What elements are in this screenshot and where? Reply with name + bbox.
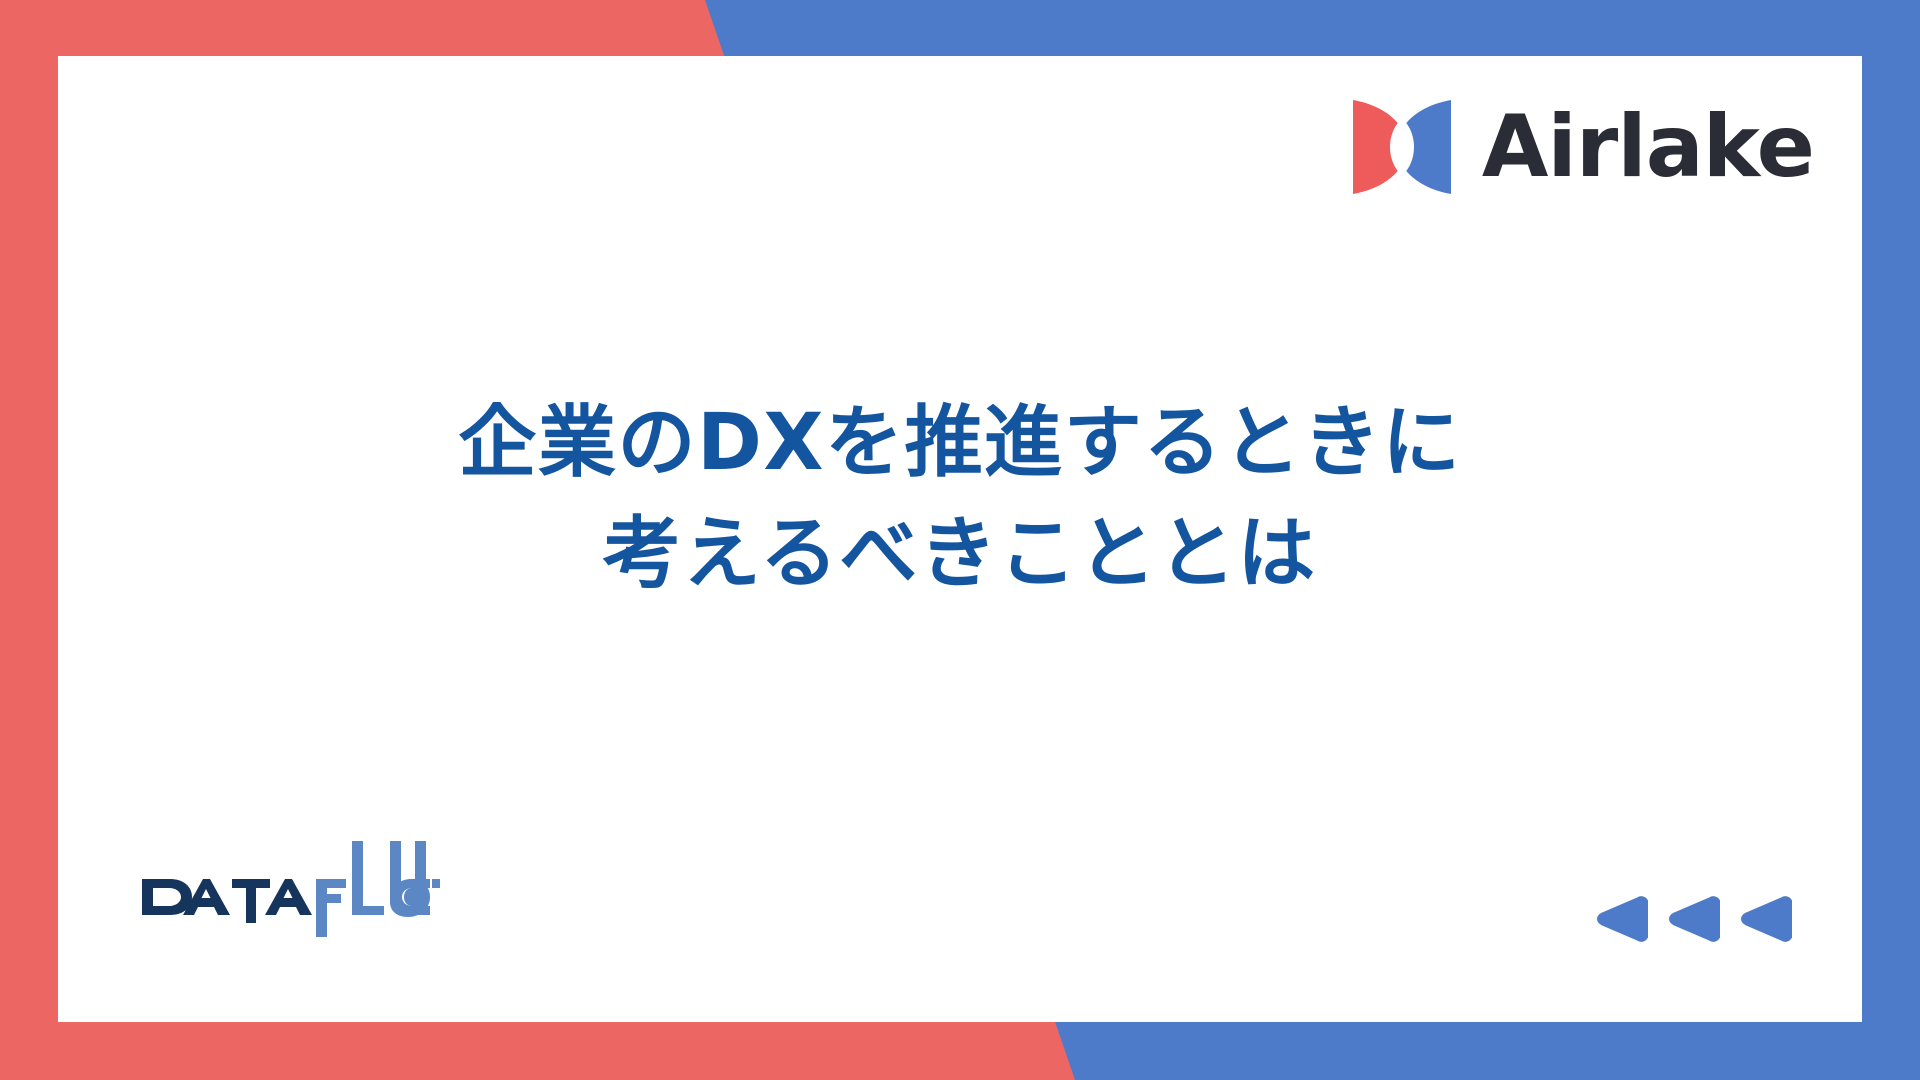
page-title: 企業のDXを推進するときに 考えるべきこととは bbox=[58, 388, 1862, 610]
prev-arrow-icon-2[interactable] bbox=[1666, 892, 1720, 946]
title-line-2: 考えるべきこととは bbox=[58, 499, 1862, 610]
airlake-mark-icon bbox=[1348, 92, 1456, 202]
airlake-logo: Airlake bbox=[1348, 92, 1814, 202]
datafluct-logo bbox=[140, 839, 440, 944]
datafluct-logo-icon bbox=[140, 839, 440, 939]
slide-root: Airlake 企業のDXを推進するときに 考えるべきこととは bbox=[0, 0, 1920, 1080]
prev-arrow-icon-3[interactable] bbox=[1738, 892, 1792, 946]
nav-arrow-group[interactable] bbox=[1594, 892, 1792, 946]
content-card: Airlake 企業のDXを推進するときに 考えるべきこととは bbox=[58, 56, 1862, 1022]
airlake-wordmark: Airlake bbox=[1482, 104, 1814, 190]
title-line-1: 企業のDXを推進するときに bbox=[58, 388, 1862, 499]
prev-arrow-icon-1[interactable] bbox=[1594, 892, 1648, 946]
